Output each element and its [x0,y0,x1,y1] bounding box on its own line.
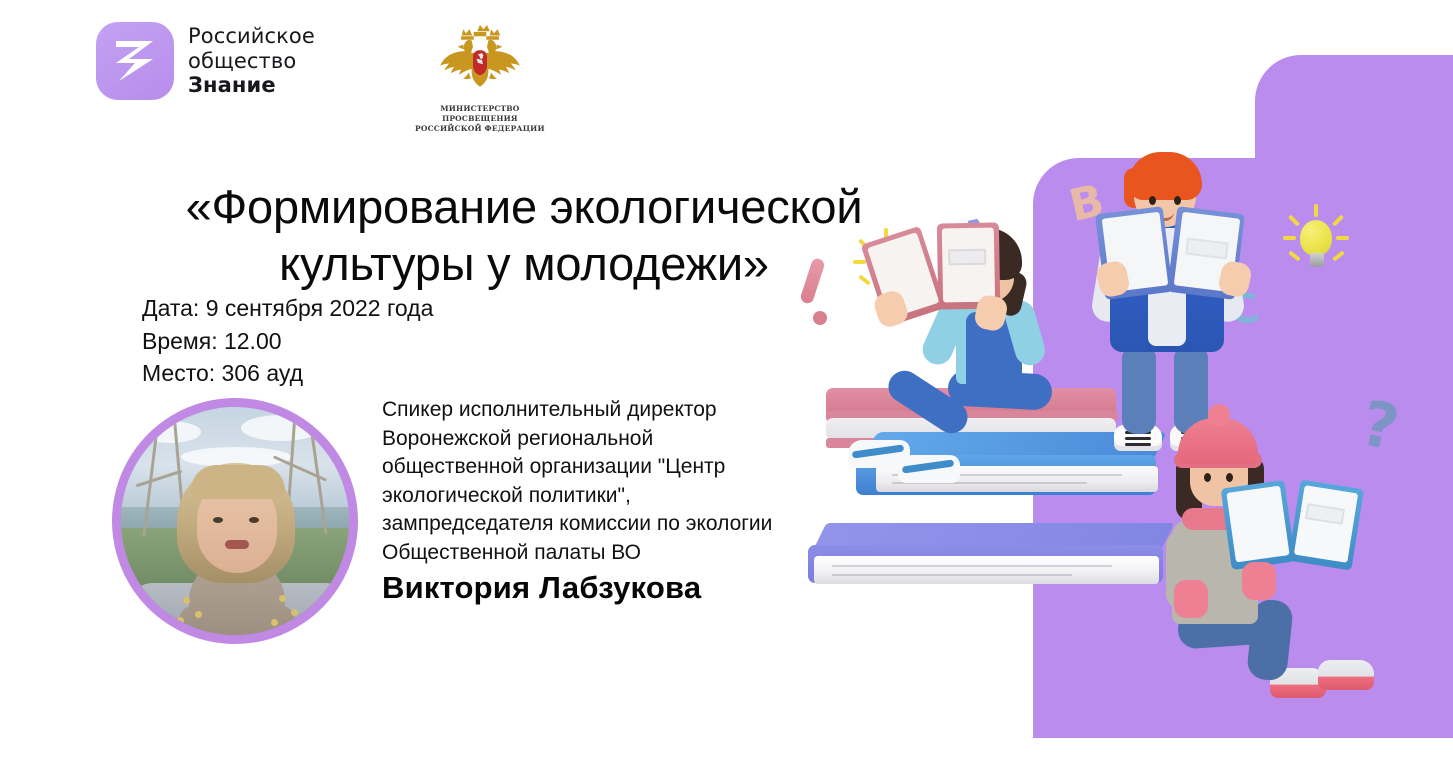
book-blue-open [1226,484,1360,566]
znanie-line-1: Российское [188,24,315,49]
znanie-z-glyph-icon [113,38,158,84]
speaker-name: Виктория Лабзукова [382,570,701,606]
ministry-logo: МИНИСТЕРСТВО ПРОСВЕЩЕНИЯ РОССИЙСКОЙ ФЕДЕ… [405,22,555,134]
exclamation-mark-dot-icon [813,311,827,325]
ministry-caption-line-2: РОССИЙСКОЙ ФЕДЕРАЦИИ [405,124,555,134]
header-logos: Российское общество Знание [96,22,555,134]
russian-double-headed-eagle-emblem-icon [438,22,522,98]
ministry-caption-line-1: МИНИСТЕРСТВО ПРОСВЕЩЕНИЯ [405,104,555,124]
lightbulb-icon [1288,210,1346,270]
event-poster: A B C [0,0,1453,759]
ministry-caption: МИНИСТЕРСТВО ПРОСВЕЩЕНИЯ РОССИЙСКОЙ ФЕДЕ… [405,104,555,134]
page-title: «Формирование экологической культуры у м… [104,178,944,293]
students-reading-illustration: A B C [780,0,1453,759]
znanie-line-2: общество [188,49,315,74]
event-details: Дата: 9 сентября 2022 года Время: 12.00 … [142,292,433,390]
book-pages [814,556,1159,584]
znanie-z-logo-icon [96,22,174,100]
speaker-description: Спикер исполнительный директор Воронежск… [382,396,812,567]
speaker-photo-ring [112,398,358,644]
event-date: Дата: 9 сентября 2022 года [142,292,433,325]
znanie-line-3: Знание [188,73,315,98]
znanie-wordmark: Российское общество Знание [188,24,315,98]
event-place: Место: 306 ауд [142,357,433,390]
event-time: Время: 12.00 [142,325,433,358]
speaker-photo [121,407,349,635]
znanie-logo: Российское общество Знание [96,22,315,100]
